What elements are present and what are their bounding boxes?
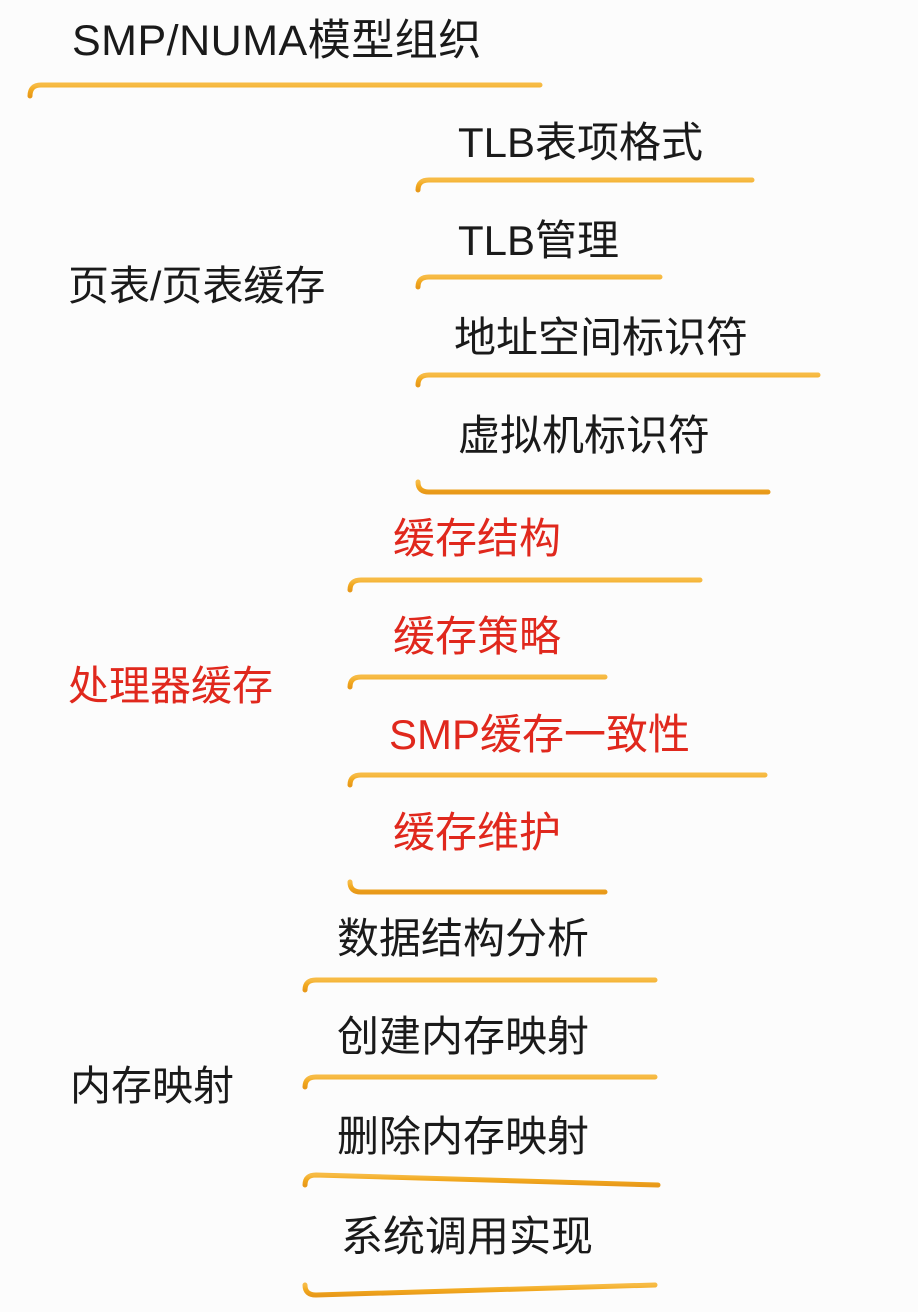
root-title-underline [30, 85, 540, 96]
root-node-label[interactable]: SMP/NUMA模型组织 [72, 20, 482, 63]
leaf-node-syscall-implementation[interactable]: 系统调用实现 [341, 1216, 593, 1258]
leaf-node-vmid[interactable]: 虚拟机标识符 [458, 415, 710, 457]
branch-2-child-2-underline [350, 677, 605, 687]
branch-3-child-1-underline [305, 980, 655, 990]
leaf-node-cache-maintenance[interactable]: 缓存维护 [393, 812, 561, 854]
branch-node-processor-cache[interactable]: 处理器缓存 [68, 666, 273, 707]
mindmap-canvas: SMP/NUMA模型组织 页表/页表缓存 TLB表项格式 TLB管理 地址空间标… [0, 0, 918, 1312]
branch-3-child-2-underline [305, 1077, 655, 1087]
branch-node-page-table[interactable]: 页表/页表缓存 [68, 266, 325, 307]
branch-node-memory-mapping[interactable]: 内存映射 [70, 1066, 234, 1107]
branch-1-child-1-underline [418, 180, 752, 190]
branch-2-child-4-underline [350, 882, 605, 892]
leaf-node-data-structure-analysis[interactable]: 数据结构分析 [337, 918, 589, 960]
leaf-node-address-space-id[interactable]: 地址空间标识符 [454, 317, 748, 359]
branch-1-child-3-underline [418, 375, 818, 385]
branch-1-child-2-underline [418, 277, 660, 287]
branch-2-child-3-underline [350, 775, 765, 785]
leaf-node-tlb-entry-format[interactable]: TLB表项格式 [458, 122, 703, 164]
leaf-node-cache-policy[interactable]: 缓存策略 [393, 616, 561, 658]
leaf-node-cache-structure[interactable]: 缓存结构 [393, 518, 561, 560]
leaf-node-delete-memory-mapping[interactable]: 删除内存映射 [337, 1116, 589, 1158]
leaf-node-create-memory-mapping[interactable]: 创建内存映射 [337, 1016, 589, 1058]
branch-1-child-4-underline [418, 482, 768, 492]
branch-3-child-4-underline [305, 1285, 655, 1295]
branch-2-child-1-underline [350, 580, 700, 590]
leaf-node-tlb-management[interactable]: TLB管理 [458, 220, 619, 262]
leaf-node-smp-cache-coherence[interactable]: SMP缓存一致性 [389, 714, 690, 756]
branch-3-child-3-underline [305, 1175, 658, 1185]
